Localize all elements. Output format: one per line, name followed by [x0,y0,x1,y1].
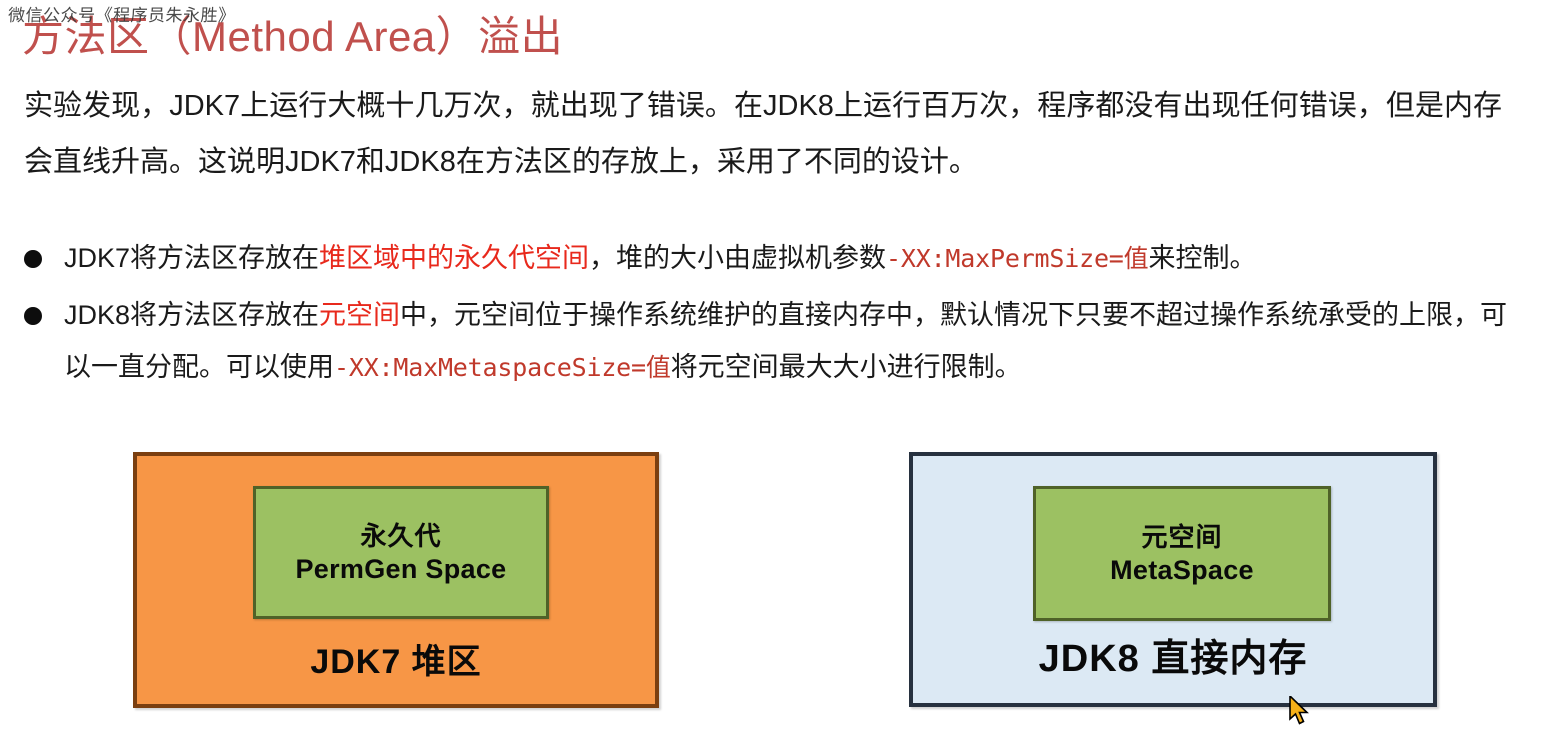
jdk8-direct-memory-box[interactable]: 元空间 MetaSpace JDK8 直接内存 [909,452,1437,707]
list-item: JDK7将方法区存放在堆区域中的永久代空间，堆的大小由虚拟机参数-XX:MaxP… [24,232,1516,285]
permgen-label-cn: 永久代 [360,520,441,552]
text-run: 将元空间最大大小进行限制。 [671,352,1022,382]
text-run: JDK8将方法区存放在 [64,300,319,330]
text-run: 来控制。 [1148,243,1256,273]
list-item: JDK8将方法区存放在元空间中，元空间位于操作系统维护的直接内存中，默认情况下只… [24,289,1516,394]
jvm-parameter-code: -XX:MaxPermSize=值 [886,244,1148,273]
jdk7-heap-caption: JDK7 堆区 [137,642,655,682]
bullet-dot-icon [24,250,42,268]
metaspace-label-en: MetaSpace [1110,553,1254,587]
jdk7-heap-box[interactable]: 永久代 PermGen Space JDK7 堆区 [133,452,659,708]
bullet-dot-icon [24,307,42,325]
jvm-parameter-code: -XX:MaxMetaspaceSize=值 [334,353,671,382]
bullet-text-jdk8: JDK8将方法区存放在元空间中，元空间位于操作系统维护的直接内存中，默认情况下只… [64,289,1516,394]
text-run: ，堆的大小由虚拟机参数 [589,243,886,273]
metaspace-label-cn: 元空间 [1141,521,1222,553]
permgen-label-en: PermGen Space [295,552,506,586]
watermark-text: 微信公众号《程序员朱永胜》 [7,6,236,26]
highlighted-term: 元空间 [319,300,400,330]
bullet-text-jdk7: JDK7将方法区存放在堆区域中的永久代空间，堆的大小由虚拟机参数-XX:MaxP… [64,232,1516,285]
text-run: JDK7将方法区存放在 [64,243,319,273]
metaspace-box[interactable]: 元空间 MetaSpace [1033,486,1331,621]
bullet-list: JDK7将方法区存放在堆区域中的永久代空间，堆的大小由虚拟机参数-XX:MaxP… [24,232,1516,398]
mouse-pointer-icon [1289,696,1311,726]
jdk8-direct-memory-caption: JDK8 直接内存 [913,639,1433,679]
permgen-space-box[interactable]: 永久代 PermGen Space [253,486,549,619]
highlighted-term: 堆区域中的永久代空间 [319,243,589,273]
intro-paragraph: 实验发现，JDK7上运行大概十几万次，就出现了错误。在JDK8上运行百万次，程序… [24,78,1502,190]
